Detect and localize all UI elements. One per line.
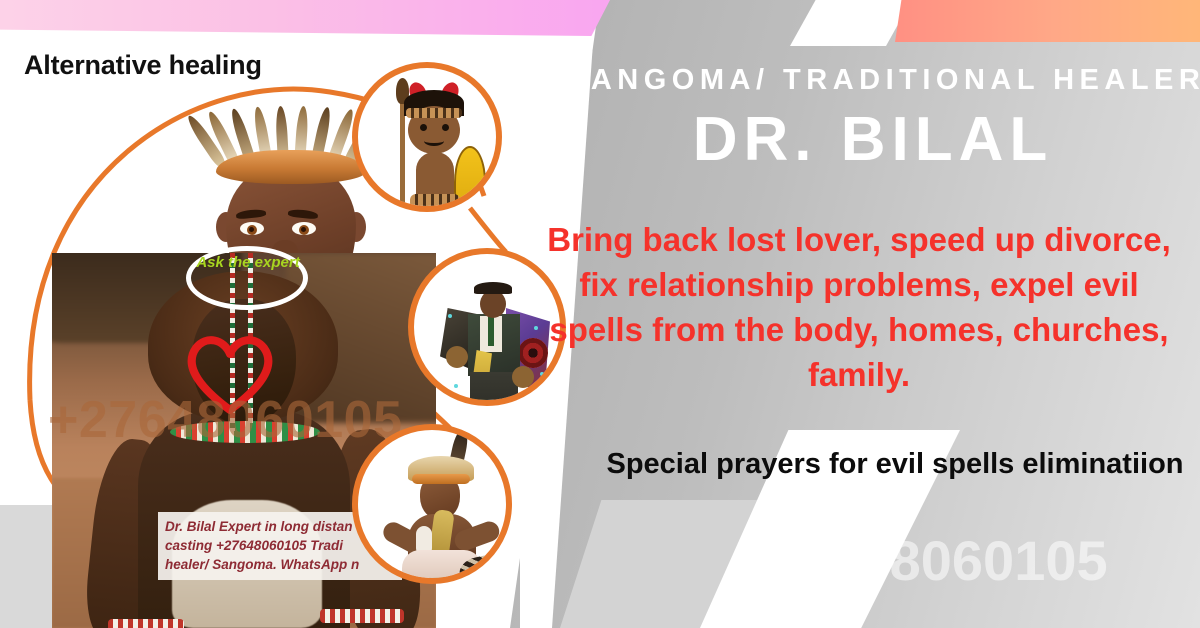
portrait-eye-right [292,222,316,235]
healer-name-title: DR. BILAL [566,104,1180,175]
grey-bottom-left-block [0,505,55,628]
zulu-warrior-cartoon-icon [358,68,496,206]
services-text: Bring back lost lover, speed up divorce,… [536,218,1182,398]
page-title: Alternative healing [24,50,262,81]
portrait-crown-band [216,150,366,184]
portrait-eye-left [240,222,264,235]
crouching-dancer-figure-icon [358,430,506,578]
orange-gradient-band [895,0,1200,42]
special-prayers-text: Special prayers for evil spells eliminat… [604,445,1186,484]
photo-watermark-phone: +27648060105 [48,390,403,450]
speech-bubble-label: Ask the expert [196,252,300,274]
photo-arm-band-left [108,619,184,628]
photo-arm-band-right [320,609,404,623]
thumbnail-crouching-dancer-figure[interactable] [352,424,512,584]
phone-watermark: +27648060105 [640,528,1200,593]
pink-gradient-band [0,0,610,36]
kicker-text: SANGOMA/ TRADITIONAL HEALER [566,64,1180,97]
thumbnail-zulu-warrior-cartoon[interactable] [352,62,502,212]
poster-canvas: Alternative healing [0,0,1200,628]
